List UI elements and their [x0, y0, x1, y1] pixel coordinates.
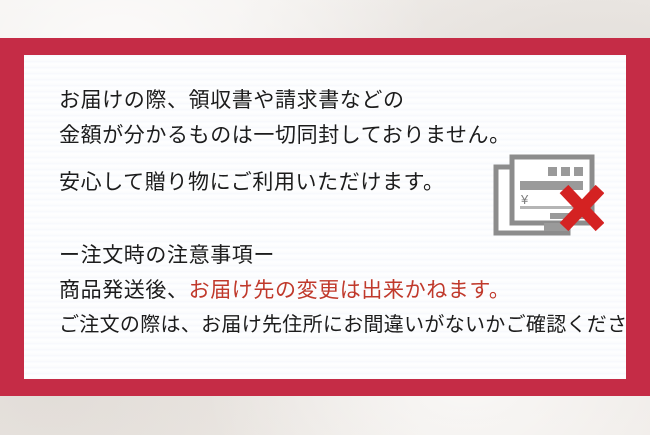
- delivery-notice-banner: お届けの際、領収書や請求書などの 金額が分かるものは一切同封しておりません。 安…: [0, 0, 650, 435]
- header-square-2: [561, 167, 570, 176]
- header-square-3: [574, 167, 583, 176]
- paragraph1-line2: 金額が分かるものは一切同封しておりません。: [59, 118, 604, 153]
- notice-card: お届けの際、領収書や請求書などの 金額が分かるものは一切同封しておりません。 安…: [24, 55, 626, 379]
- no-invoice-icon: ¥: [492, 153, 604, 245]
- notice-line1-red: お届け先の変更は出来かねます。: [189, 278, 511, 302]
- yen-symbol: ¥: [520, 192, 529, 207]
- header-square-1: [548, 167, 557, 176]
- paragraph1-line1: お届けの際、領収書や請求書などの: [59, 83, 604, 118]
- notice-line1: 商品発送後、お届け先の変更は出来かねます。: [59, 273, 604, 308]
- notice-line2: ご注文の際は、お届け先住所にお間違いがないかご確認ください。: [59, 308, 604, 343]
- amount-bar: [520, 181, 583, 190]
- no-invoice-icon-graphic: ¥: [492, 153, 604, 245]
- notice-line1-black: 商品発送後、: [59, 278, 189, 302]
